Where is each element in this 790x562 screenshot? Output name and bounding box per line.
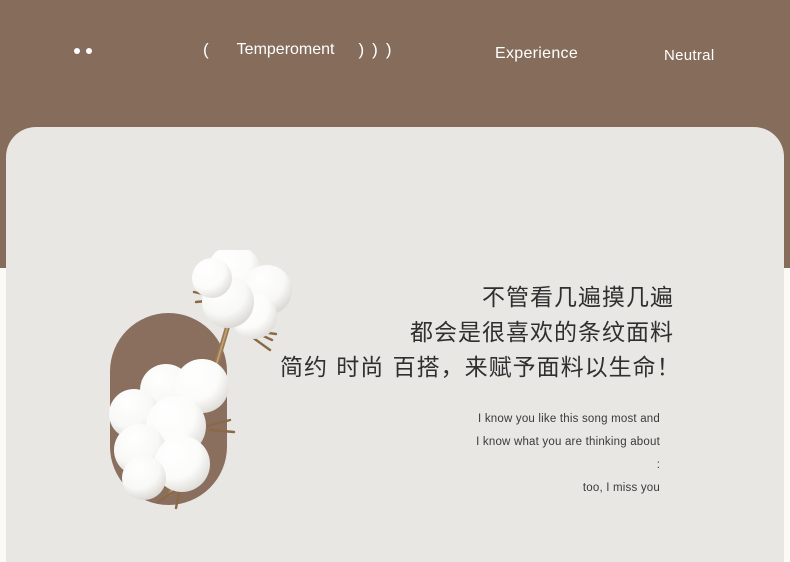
chinese-line-3: 简约 时尚 百搭，来赋予面料以生命！ xyxy=(280,351,674,386)
english-copy-block: I know you like this song most and I kno… xyxy=(300,408,660,500)
english-line-4: too, I miss you xyxy=(300,477,660,500)
header-label-temperoment: Temperoment xyxy=(237,41,335,59)
two-dots-icon xyxy=(74,48,92,54)
chinese-line-2: 都会是很喜欢的条纹面料 xyxy=(280,316,674,351)
chinese-copy-block: 不管看几遍摸几遍 都会是很喜欢的条纹面料 简约 时尚 百搭，来赋予面料以生命！ xyxy=(280,281,674,386)
cotton-branch-illustration xyxy=(104,250,304,515)
english-line-2: I know what you are thinking about xyxy=(300,431,660,454)
header-temperoment-group: ( Temperoment ) ) ) xyxy=(203,40,392,60)
english-line-3: : xyxy=(300,454,660,477)
paren-close-3: ) xyxy=(386,40,392,60)
product-banner: ( Temperoment ) ) ) Experience Neutral xyxy=(0,0,790,562)
english-line-1: I know you like this song most and xyxy=(300,408,660,431)
header-label-neutral: Neutral xyxy=(664,47,714,64)
header-label-experience: Experience xyxy=(495,45,578,63)
cotton-branch-graphic xyxy=(104,250,304,515)
paren-close-1: ) xyxy=(359,40,365,60)
paren-close-2: ) xyxy=(372,40,378,60)
chinese-line-1: 不管看几遍摸几遍 xyxy=(280,281,674,316)
paren-open: ( xyxy=(203,40,209,60)
header-label-row: ( Temperoment ) ) ) Experience Neutral xyxy=(0,0,790,126)
